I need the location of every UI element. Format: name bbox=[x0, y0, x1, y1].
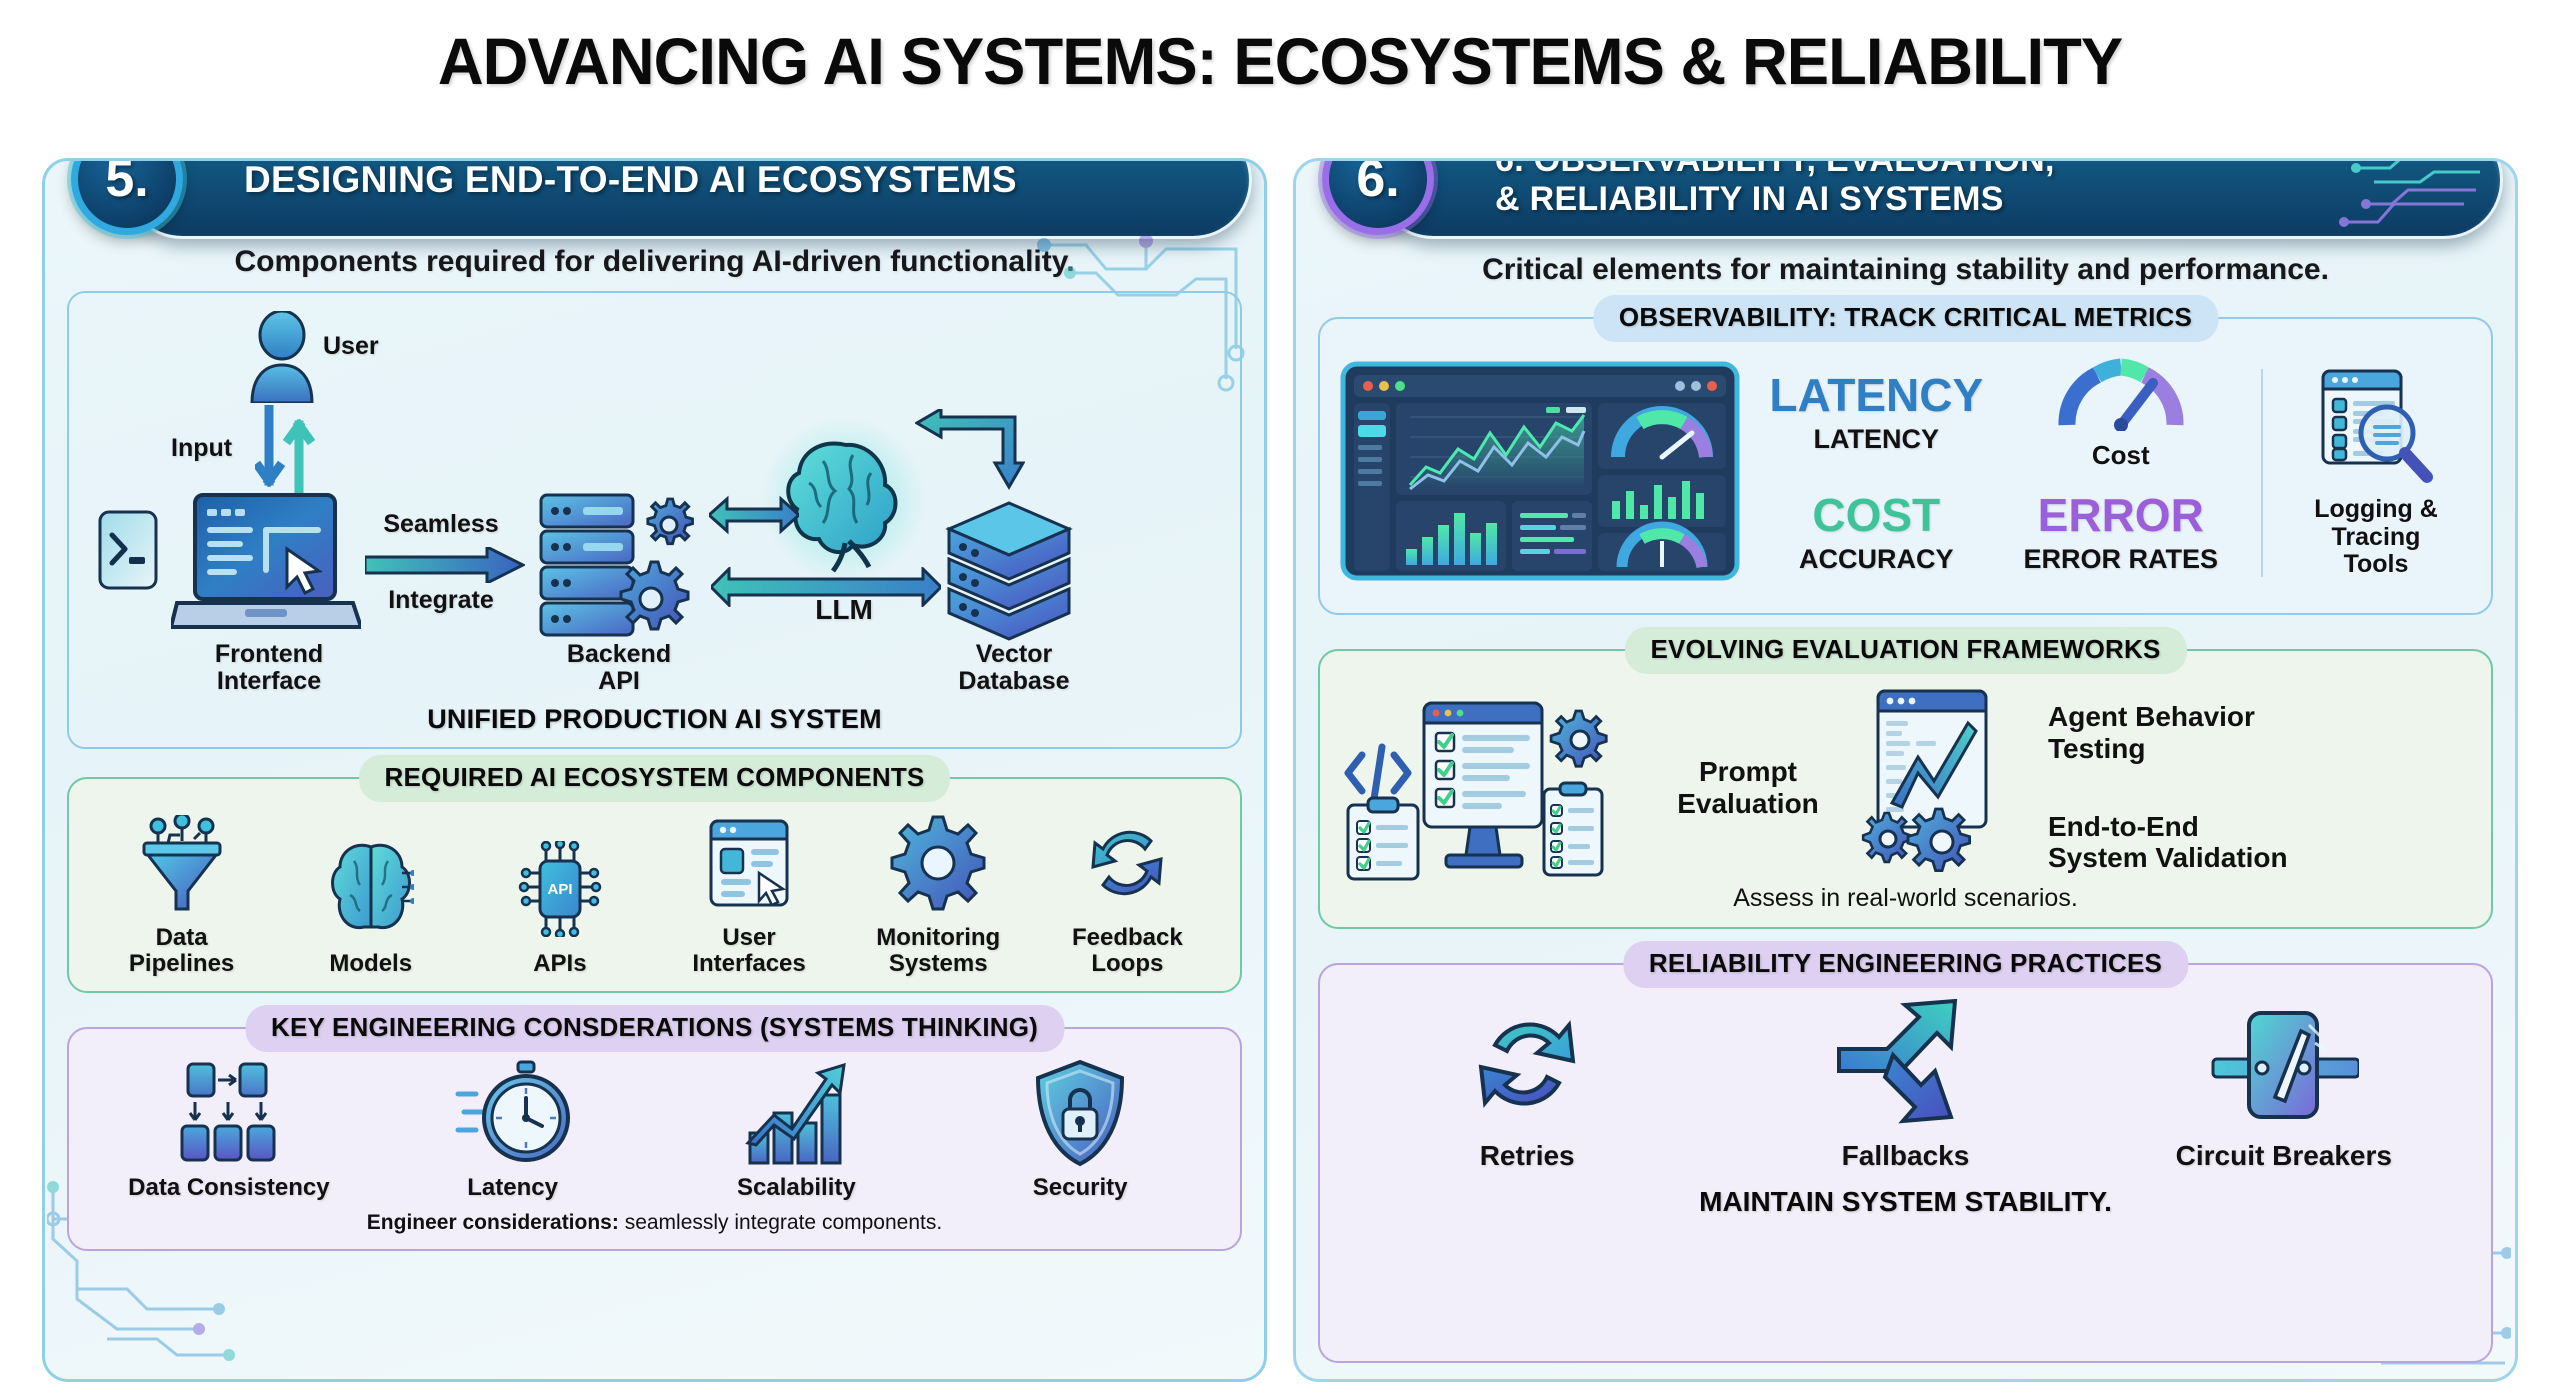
left-header-bar: DESIGNING END-TO-END AI ECOSYSTEMS bbox=[123, 158, 1252, 239]
stopwatch-icon bbox=[454, 1059, 572, 1167]
left-panel-header: DESIGNING END-TO-END AI ECOSYSTEMS 5. bbox=[71, 158, 1252, 239]
log-search-icon bbox=[2281, 367, 2471, 490]
required-components-pill: REQUIRED AI ECOSYSTEM COMPONENTS bbox=[359, 755, 951, 802]
bidirectional-arrow-icon bbox=[709, 495, 799, 545]
gauge-icon bbox=[2055, 355, 2187, 436]
laptop-frontend-icon bbox=[171, 491, 361, 637]
right-panel-subtitle: Critical elements for maintaining stabil… bbox=[1318, 253, 2493, 287]
evaluation-grid: Prompt Evaluation bbox=[1338, 681, 2473, 890]
agent-behavior-testing-label: Agent Behavior Testing bbox=[2048, 701, 2473, 765]
backend-label: Backend API bbox=[534, 641, 704, 695]
funnel-icon bbox=[136, 809, 228, 917]
components-icon-row: Data Pipelines bbox=[87, 809, 1222, 977]
consideration-latency[interactable]: Latency bbox=[376, 1059, 648, 1201]
component-label-l1: User bbox=[722, 924, 775, 951]
consideration-label: Scalability bbox=[737, 1174, 856, 1201]
right-header-bar: 6. OBSERVABILITY, EVALUATION, & RELIABIL… bbox=[1374, 158, 2503, 239]
component-feedback-loops[interactable]: Feedback Loops bbox=[1037, 809, 1219, 977]
logging-tracing-block: Logging & Tracing Tools bbox=[2281, 367, 2471, 579]
metric-latency-small: LATENCY bbox=[1769, 424, 1983, 455]
component-label-l1: Feedback bbox=[1072, 924, 1183, 951]
panel-observability-reliability: 6. OBSERVABILITY, EVALUATION, & RELIABIL… bbox=[1293, 158, 2518, 1382]
component-label-l1: Monitoring bbox=[876, 924, 1000, 951]
reliability-caption: Retries bbox=[1357, 1140, 1698, 1172]
vector-database-icon bbox=[939, 501, 1079, 641]
end-to-end-validation-label: End-to-End System Validation bbox=[2048, 811, 2473, 875]
required-components-box: REQUIRED AI ECOSYSTEM COMPONENTS bbox=[67, 777, 1242, 993]
vector-db-label: Vector Database bbox=[944, 641, 1084, 695]
backend-api-icon bbox=[537, 491, 707, 641]
architecture-box: User Input bbox=[67, 291, 1242, 749]
consideration-label: Latency bbox=[467, 1174, 558, 1201]
consideration-scalability[interactable]: Scalability bbox=[660, 1059, 932, 1201]
prompt-evaluation-label: Prompt Evaluation bbox=[1648, 756, 1848, 819]
reliability-footer: MAINTAIN SYSTEM STABILITY. bbox=[1338, 1186, 2473, 1218]
reliability-row: Retries Fallbacks bbox=[1338, 995, 2473, 1172]
vector-arrow-icon bbox=[711, 567, 941, 607]
terminal-icon bbox=[97, 509, 159, 591]
user-icon bbox=[247, 311, 317, 403]
reliability-caption: Fallbacks bbox=[1735, 1140, 2076, 1172]
growth-chart-icon bbox=[740, 1059, 852, 1167]
considerations-note-rest: seamlessly integrate components. bbox=[619, 1211, 942, 1234]
refresh-loop-icon bbox=[1081, 809, 1173, 917]
reliability-circuit-breakers[interactable]: Circuit Breakers bbox=[2114, 1003, 2455, 1172]
consideration-label: Data Consistency bbox=[128, 1174, 329, 1201]
shield-lock-icon bbox=[1032, 1059, 1128, 1167]
input-arrows-icon bbox=[255, 405, 317, 501]
fallback-fork-icon bbox=[1835, 999, 1975, 1129]
right-header-line2: & RELIABILITY IN AI SYSTEMS bbox=[1495, 180, 2004, 218]
evaluation-right-labels: Agent Behavior Testing End-to-End System… bbox=[2048, 701, 2473, 875]
left-header-title: DESIGNING END-TO-END AI ECOSYSTEMS bbox=[244, 159, 1017, 201]
panel-designing-ecosystems: DESIGNING END-TO-END AI ECOSYSTEMS 5. Co… bbox=[42, 158, 1267, 1382]
user-label: User bbox=[323, 333, 379, 360]
considerations-note-bold: Engineer considerations: bbox=[367, 1211, 619, 1234]
reliability-retries[interactable]: Retries bbox=[1357, 999, 1698, 1172]
consideration-label: Security bbox=[1033, 1174, 1128, 1201]
key-considerations-box: KEY ENGINEERING CONSDERATIONS (SYSTEMS T… bbox=[67, 1027, 1242, 1251]
component-label-l1: APIs bbox=[533, 950, 586, 977]
checklist-monitor-icon bbox=[1338, 685, 1638, 890]
architecture-diagram: User Input bbox=[79, 305, 1230, 735]
brain-llm-icon bbox=[783, 439, 909, 573]
page-title: ADVANCING AI SYSTEMS: ECOSYSTEMS & RELIA… bbox=[51, 0, 2509, 94]
metric-cost-big: COST bbox=[1799, 492, 1954, 538]
component-label-l1: Models bbox=[329, 950, 412, 977]
window-ui-icon bbox=[703, 809, 795, 917]
architecture-footer: UNIFIED PRODUCTION AI SYSTEM bbox=[79, 704, 1230, 735]
component-label-l2: Interfaces bbox=[692, 950, 805, 977]
observability-metrics: LATENCY LATENCY bbox=[1754, 355, 2243, 591]
metric-cost-caption: Cost bbox=[2055, 440, 2187, 471]
right-panel-header: 6. OBSERVABILITY, EVALUATION, & RELIABIL… bbox=[1322, 158, 2503, 239]
frontend-label: Frontend Interface bbox=[189, 641, 349, 695]
consideration-security[interactable]: Security bbox=[944, 1059, 1216, 1201]
panels-row: DESIGNING END-TO-END AI ECOSYSTEMS 5. Co… bbox=[0, 158, 2560, 1382]
observability-grid: LATENCY LATENCY bbox=[1338, 349, 2473, 599]
metric-error-rates-small: ERROR RATES bbox=[2023, 544, 2218, 575]
component-data-pipelines[interactable]: Data Pipelines bbox=[91, 809, 273, 977]
metric-error-big: ERROR bbox=[2023, 492, 2218, 538]
chip-api-icon: API bbox=[514, 835, 606, 943]
right-header-line1: 6. OBSERVABILITY, EVALUATION, bbox=[1495, 158, 2055, 179]
spacer bbox=[2048, 765, 2473, 811]
metric-accuracy-small: ACCURACY bbox=[1799, 544, 1954, 575]
consideration-data-consistency[interactable]: Data Consistency bbox=[93, 1059, 365, 1201]
integrate-label: Integrate bbox=[361, 587, 521, 614]
evaluation-frameworks-box: EVOLVING EVALUATION FRAMEWORKS bbox=[1318, 649, 2493, 929]
seamless-arrow-icon bbox=[365, 547, 525, 583]
metric-cost: COST ACCURACY bbox=[1799, 492, 1954, 575]
left-panel-subtitle: Components required for delivering AI-dr… bbox=[67, 245, 1242, 279]
metric-latency: LATENCY LATENCY bbox=[1769, 372, 1983, 455]
metric-latency-big: LATENCY bbox=[1769, 372, 1983, 418]
circuit-breaker-icon bbox=[2209, 1003, 2359, 1129]
component-label-l1: Data bbox=[156, 924, 208, 951]
observability-divider bbox=[2261, 369, 2263, 577]
data-flow-icon bbox=[174, 1059, 284, 1167]
component-label-l2: Systems bbox=[889, 950, 988, 977]
gear-icon bbox=[890, 809, 986, 917]
brain-icon bbox=[328, 835, 414, 943]
reliability-caption: Circuit Breakers bbox=[2114, 1140, 2455, 1172]
considerations-icon-row: Data Consistency bbox=[87, 1059, 1222, 1201]
metric-error: ERROR ERROR RATES bbox=[2023, 492, 2218, 575]
component-models[interactable]: Models bbox=[280, 835, 462, 977]
seamless-label: Seamless bbox=[361, 511, 521, 538]
header-circuit-icon bbox=[2334, 158, 2484, 232]
svg-text:API: API bbox=[547, 881, 572, 898]
input-label: Input bbox=[171, 435, 232, 462]
component-monitoring-systems[interactable]: Monitoring Systems bbox=[847, 809, 1029, 977]
considerations-note: Engineer considerations: seamlessly inte… bbox=[87, 1211, 1222, 1235]
component-label-l2: Loops bbox=[1091, 950, 1163, 977]
analytics-dashboard-icon bbox=[1340, 361, 1740, 586]
metric-cost-gauge: Cost bbox=[2055, 355, 2187, 471]
evaluation-frameworks-pill: EVOLVING EVALUATION FRAMEWORKS bbox=[1624, 627, 2186, 674]
reliability-practices-box: RELIABILITY ENGINEERING PRACTICES Retrie… bbox=[1318, 963, 2493, 1363]
component-user-interfaces[interactable]: User Interfaces bbox=[658, 809, 840, 977]
component-apis[interactable]: API APIs bbox=[469, 835, 651, 977]
retry-loop-icon bbox=[1463, 999, 1591, 1129]
component-label-l2: Pipelines bbox=[129, 950, 234, 977]
key-considerations-pill: KEY ENGINEERING CONSDERATIONS (SYSTEMS T… bbox=[245, 1005, 1064, 1052]
reliability-fallbacks[interactable]: Fallbacks bbox=[1735, 999, 2076, 1172]
observability-pill: OBSERVABILITY: TRACK CRITICAL METRICS bbox=[1593, 295, 2218, 342]
observability-box: OBSERVABILITY: TRACK CRITICAL METRICS bbox=[1318, 317, 2493, 615]
reliability-practices-pill: RELIABILITY ENGINEERING PRACTICES bbox=[1623, 941, 2188, 988]
trend-window-gears-icon bbox=[1858, 685, 2038, 890]
logging-caption: Logging & Tracing Tools bbox=[2281, 496, 2471, 579]
right-header-title: 6. OBSERVABILITY, EVALUATION, & RELIABIL… bbox=[1495, 158, 2055, 219]
